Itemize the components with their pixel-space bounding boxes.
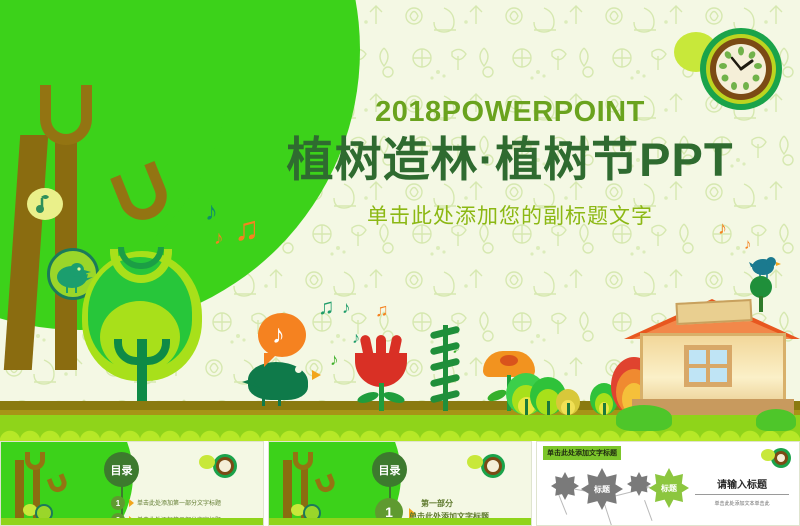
thumbnail-diagram[interactable]: 单击此处添加文字标题 标题 标题 请输入标题 单击此处添加文本单击此 [536, 441, 800, 526]
bush-icon [616, 405, 672, 431]
diagram-heading: 请输入标题 [687, 476, 797, 491]
eco-wall-clock-icon [700, 28, 782, 110]
contents-badge: 目录 [372, 452, 407, 487]
item-number: 1 [111, 496, 125, 510]
section-line-one: 第一部分 [421, 498, 453, 509]
bush-icon [756, 409, 796, 431]
fern-plant-icon [428, 319, 462, 411]
flying-bird-icon [748, 252, 782, 278]
lollipop-tree [556, 377, 580, 415]
bird-speech-bubble: ♪ [258, 313, 306, 357]
clock-icon [481, 454, 505, 478]
slide-thumbnail-strip: 目录 1 单击此处添加第一部分文字标题 2 单击此处添加第二部分文字标题 目录 [0, 441, 800, 526]
music-note-icon: ♪ [330, 350, 339, 370]
contents-item-label: 单击此处添加第一部分文字标题 [137, 498, 221, 507]
wooden-house-icon [618, 295, 798, 415]
diagram-node: 标题 [649, 468, 689, 508]
main-slide[interactable]: ♪ ♪ ♫ ♫ ♪ ♫ ♪ ♪ ♪ ♪ ♪ 2018POWERPOINT 植树造… [0, 0, 800, 441]
page-title[interactable]: 植树造林·植树节PPT [250, 135, 770, 184]
diagram-node [551, 472, 579, 500]
music-note-icon: ♪ [205, 196, 218, 227]
diagram-node: 标题 [581, 468, 623, 510]
clock-icon [213, 454, 237, 478]
year-label[interactable]: 2018POWERPOINT [250, 96, 770, 129]
music-note-icon: ♪ [342, 298, 351, 318]
music-note-icon: ♪ [214, 228, 224, 250]
contents-badge: 目录 [104, 452, 139, 487]
roof-tree-icon [744, 276, 778, 312]
presentation-preview: ♪ ♪ ♫ ♫ ♪ ♫ ♪ ♪ ♪ ♪ ♪ 2018POWERPOINT 植树造… [0, 0, 800, 526]
singing-bird-icon [248, 358, 314, 406]
diagram-body-text: 单击此处添加文本单击此 [687, 500, 797, 507]
thumbnail-section-one[interactable]: 目录 1 第一部分 单击此处添加文字标题 [268, 441, 532, 526]
thumbnail-contents-list[interactable]: 目录 1 单击此处添加第一部分文字标题 2 单击此处添加第二部分文字标题 [0, 441, 264, 526]
title-block: 2018POWERPOINT 植树造林·植树节PPT 单击此处添加您的副标题文字 [250, 96, 770, 230]
layered-tree [78, 243, 206, 418]
tulip-flower-icon [355, 335, 407, 411]
music-note-icon: ♫ [318, 294, 335, 320]
music-note-icon: ♫ [375, 300, 389, 321]
bird-speech-bubble-small [27, 188, 63, 220]
page-subtitle[interactable]: 单击此处添加您的副标题文字 [250, 200, 770, 230]
music-note-icon: ♪ [744, 236, 752, 253]
slide-banner-title: 单击此处添加文字标题 [543, 446, 621, 460]
grass-scallop-pattern [0, 415, 800, 441]
